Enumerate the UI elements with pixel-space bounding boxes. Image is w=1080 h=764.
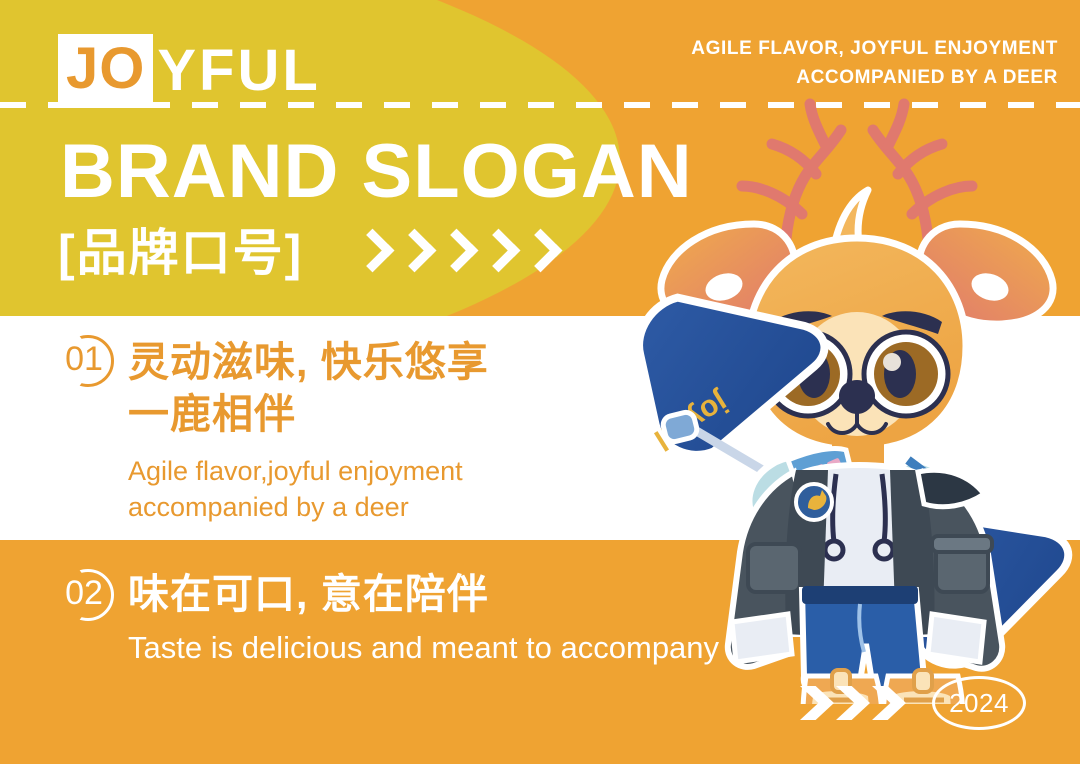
slogan-english: BRAND SLOGAN — [60, 134, 693, 210]
logo-plain-letters: YFUL — [157, 42, 320, 100]
brand-logo: JO YFUL — [58, 34, 321, 108]
brand-poster: JO YFUL AGILE FLAVOR, JOYFUL ENJOYMENT A… — [0, 0, 1080, 764]
deer-mascot-illustration: joyful deer — [636, 74, 1080, 704]
feature-01-en-line1: Agile flavor,joyful enjoyment — [128, 453, 489, 489]
slogan-row: [品牌口号] — [58, 228, 553, 278]
footer-chevron-group — [800, 686, 906, 720]
feature-block-02: 02 味在可口, 意在陪伴 Taste is delicious and mea… — [56, 570, 719, 666]
feature-02-text: 味在可口, 意在陪伴 Taste is delicious and meant … — [128, 570, 719, 666]
chevron-right-icon — [397, 230, 427, 276]
badge-01: 01 — [56, 336, 118, 380]
chevron-group — [355, 230, 553, 276]
feature-01-cn-line1: 灵动滋味, 快乐悠享 — [128, 336, 489, 388]
badge-number: 02 — [56, 572, 112, 614]
footer-group: 2024 — [800, 676, 1026, 730]
badge-number: 01 — [56, 338, 112, 380]
header-tagline-line2: ACCOMPANIED BY A DEER — [691, 63, 1058, 92]
chevron-right-icon — [439, 230, 469, 276]
feature-02-en-line1: Taste is delicious and meant to accompan… — [128, 629, 719, 666]
header-tagline-line1: AGILE FLAVOR, JOYFUL ENJOYMENT — [691, 34, 1058, 63]
chevron-right-icon — [355, 230, 385, 276]
header-tagline: AGILE FLAVOR, JOYFUL ENJOYMENT ACCOMPANI… — [691, 34, 1058, 93]
chevron-right-icon — [481, 230, 511, 276]
feature-02-cn-line1: 味在可口, 意在陪伴 — [128, 570, 719, 619]
chevron-right-icon — [523, 230, 553, 276]
feature-block-01: 01 灵动滋味, 快乐悠享 一鹿相伴 Agile flavor,joyful e… — [56, 336, 489, 526]
slogan-chinese: [品牌口号] — [58, 228, 303, 278]
logo-boxed-letters: JO — [58, 34, 153, 108]
chevron-right-solid-icon — [836, 686, 870, 720]
feature-01-cn-line2: 一鹿相伴 — [128, 388, 489, 440]
year-badge: 2024 — [932, 676, 1026, 730]
chevron-right-solid-icon — [872, 686, 906, 720]
badge-02: 02 — [56, 570, 118, 614]
chevron-right-solid-icon — [800, 686, 834, 720]
feature-01-en-line2: accompanied by a deer — [128, 489, 489, 525]
feature-01-text: 灵动滋味, 快乐悠享 一鹿相伴 Agile flavor,joyful enjo… — [128, 336, 489, 526]
